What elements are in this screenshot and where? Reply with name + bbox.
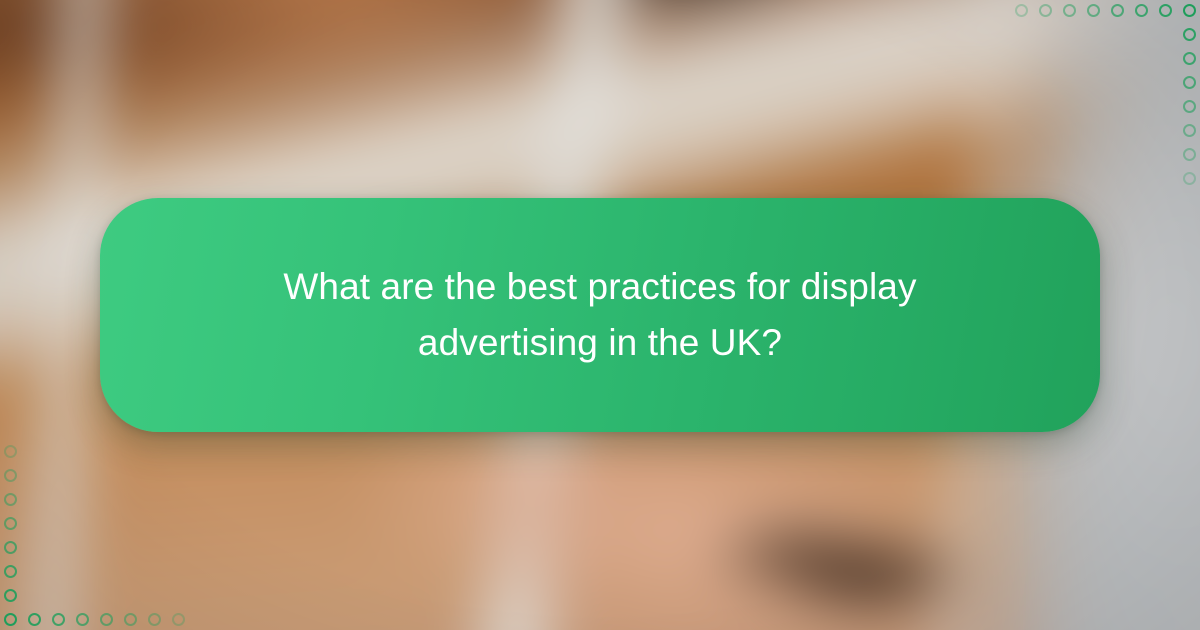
question-card[interactable]: What are the best practices for display …: [100, 198, 1100, 432]
question-text: What are the best practices for display …: [250, 259, 950, 371]
poster-canvas: What are the best practices for display …: [0, 0, 1200, 630]
